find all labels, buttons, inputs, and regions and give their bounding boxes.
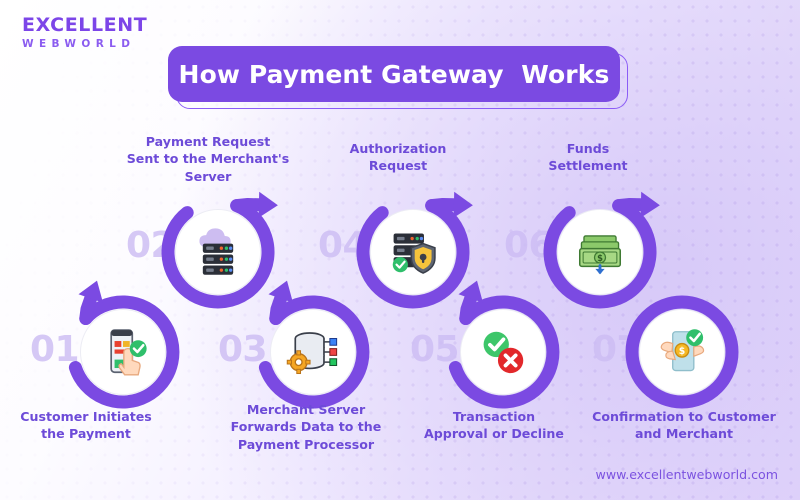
phone-hand-coin-confirm-icon: $ <box>639 309 725 395</box>
step-caption-04: Authorization Request <box>300 140 496 175</box>
database-gear-icon <box>270 309 356 395</box>
title-banner-fill: How Payment Gateway Works <box>168 46 620 102</box>
step-node-07[interactable]: $ <box>627 297 737 407</box>
step-ring-07: $ <box>627 297 737 407</box>
step-caption-03: Merchant Server Forwards Data to the Pay… <box>206 401 406 453</box>
step-caption-07: Confirmation to Customer and Merchant <box>578 408 790 443</box>
brand-name-line2: WEBWORLD <box>22 39 147 50</box>
phone-tap-payment-icon <box>80 309 166 395</box>
step-caption-05: Transaction Approval or Decline <box>396 408 592 443</box>
title-banner: How Payment Gateway Works <box>168 46 620 102</box>
svg-text:$: $ <box>597 253 603 263</box>
brand-name-line1: EXCELLENT <box>22 16 147 35</box>
approve-decline-icon <box>460 309 546 395</box>
step-caption-02: Payment Request Sent to the Merchant's S… <box>110 133 306 185</box>
brand-logo: EXCELLENT WEBWORLD <box>22 16 147 50</box>
page-title: How Payment Gateway Works <box>179 60 610 89</box>
step-caption-06: Funds Settlement <box>490 140 686 175</box>
footer-website-url: www.excellentwebworld.com <box>596 467 778 482</box>
infographic-canvas: EXCELLENT WEBWORLD How Payment Gateway W… <box>0 0 800 500</box>
svg-text:$: $ <box>679 346 685 357</box>
step-caption-01: Customer Initiates the Payment <box>0 408 184 443</box>
